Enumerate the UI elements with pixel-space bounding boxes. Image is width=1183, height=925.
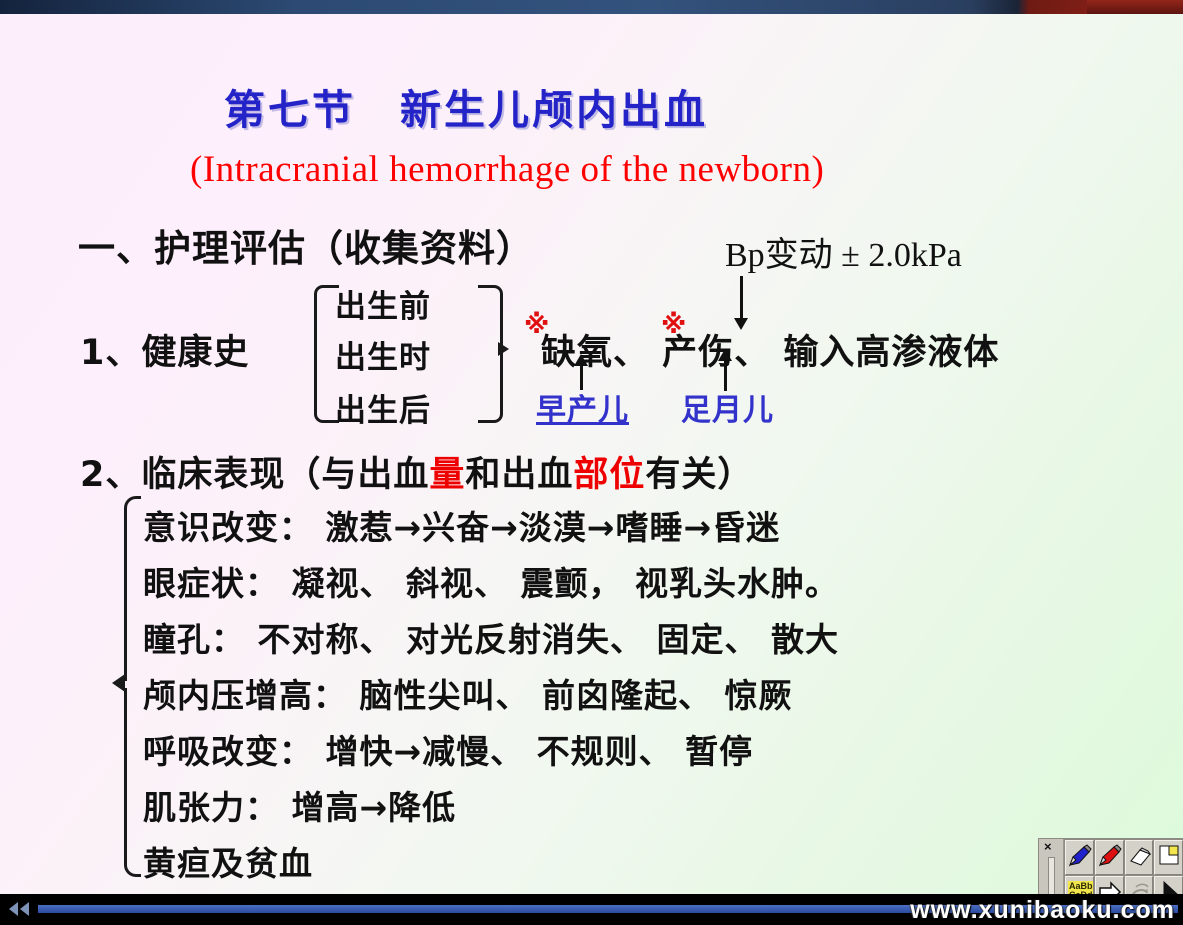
- section-1-heading: 一、护理评估（收集资料）: [78, 218, 534, 272]
- stack-bracket-pointer: [498, 342, 509, 356]
- site-watermark: www.xunibaoku.com: [910, 896, 1175, 925]
- symptom-list-brace: [112, 496, 138, 874]
- color-palette-icon[interactable]: [1154, 840, 1183, 875]
- symptom-intracranial-pressure: 颅内压增高： 脑性尖叫、 前囟隆起、 惊厥: [143, 669, 792, 717]
- history-stack-item-postnatal: 出生后: [335, 385, 431, 430]
- section-2-middle: 和出血: [465, 455, 573, 495]
- blue-pen-icon[interactable]: [1065, 840, 1094, 875]
- window-close-button[interactable]: [1087, 0, 1183, 14]
- window-titlebar: [0, 0, 1183, 14]
- section-2-tail: 有关）: [645, 455, 753, 495]
- screen-root: 第七节 新生儿颅内出血 (Intracranial hemorrhage of …: [0, 0, 1183, 925]
- toolbar-close-button[interactable]: ×: [1044, 841, 1052, 853]
- bp-annotation: Bp变动 ± 2.0kPa: [725, 227, 962, 276]
- symptom-respiration: 呼吸改变： 增快→减慢、 不规则、 暂停: [143, 725, 753, 773]
- blue-tag-fullterm: 足月儿: [681, 385, 774, 429]
- history-stack-item-prenatal: 出生前: [335, 281, 431, 326]
- causes-line: 缺氧、 产伤、 输入高渗液体: [541, 324, 999, 375]
- history-stack-item-perinatal: 出生时: [335, 332, 431, 377]
- section-2-label: 2、临床表现（与出血: [80, 455, 429, 495]
- page-title-english: (Intracranial hemorrhage of the newborn): [190, 148, 824, 191]
- page-title-chinese: 第七节 新生儿颅内出血: [224, 76, 708, 136]
- slide-canvas: 第七节 新生儿颅内出血 (Intracranial hemorrhage of …: [0, 14, 1183, 894]
- red-pen-icon[interactable]: [1095, 840, 1124, 875]
- eraser-icon[interactable]: [1125, 840, 1154, 875]
- section-2-highlight-site: 部位: [573, 455, 645, 495]
- section-2-highlight-amount: 量: [429, 455, 465, 495]
- symptom-eye-signs: 眼症状： 凝视、 斜视、 震颤， 视乳头水肿。: [143, 557, 839, 605]
- section-2-heading: 2、临床表现（与出血量和出血部位有关）: [80, 446, 753, 497]
- symptom-pupils: 瞳孔： 不对称、 对光反射消失、 固定、 散大: [143, 613, 839, 661]
- symptom-muscle-tone: 肌张力： 增高→降低: [143, 781, 456, 829]
- health-history-label: 1、健康史: [80, 324, 249, 375]
- rewind-icon[interactable]: [6, 901, 32, 917]
- symptom-consciousness: 意识改变： 激惹→兴奋→淡漠→嗜睡→昏迷: [143, 501, 780, 549]
- symptom-jaundice-anemia: 黄疸及贫血: [143, 837, 313, 885]
- blue-tag-preterm: 早产儿: [536, 385, 629, 429]
